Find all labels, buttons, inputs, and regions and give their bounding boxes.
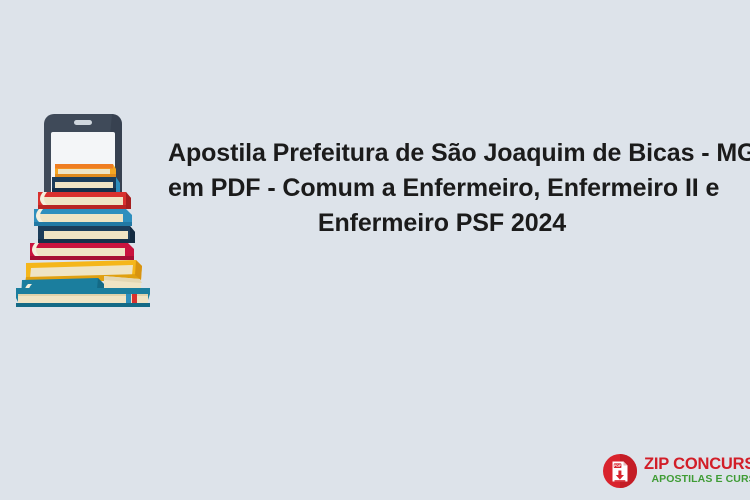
book-navy-upper — [52, 177, 120, 192]
logo-text-block: ZIP CONCURSOS APOSTILAS E CURSOS — [644, 456, 750, 486]
book-orange-top — [55, 164, 116, 177]
title-line-3: Enfermeiro PSF 2024 — [168, 206, 716, 241]
book-red-upper — [38, 192, 131, 209]
book-navy-middle — [38, 226, 135, 243]
logo-subtitle: APOSTILAS E CURSOS — [644, 473, 750, 486]
stack-of-books-illustration — [8, 108, 168, 308]
pdf-download-icon: PDF — [602, 453, 638, 489]
svg-text:PDF: PDF — [614, 464, 622, 468]
logo-title: ZIP CONCURSOS — [644, 456, 750, 473]
book-teal-bottom — [16, 288, 150, 307]
book-crimson — [30, 243, 134, 260]
product-banner: Apostila Prefeitura de São Joaquim de Bi… — [0, 0, 750, 500]
brand-logo[interactable]: PDF ZIP CONCURSOS APOSTILAS E CURSOS — [602, 450, 746, 492]
book-blue-middle — [34, 209, 132, 226]
title-line-2: em PDF - Comum a Enfermeiro, Enfermeiro … — [168, 171, 716, 206]
title-line-1: Apostila Prefeitura de São Joaquim de Bi… — [168, 136, 716, 171]
page-title: Apostila Prefeitura de São Joaquim de Bi… — [168, 136, 716, 241]
